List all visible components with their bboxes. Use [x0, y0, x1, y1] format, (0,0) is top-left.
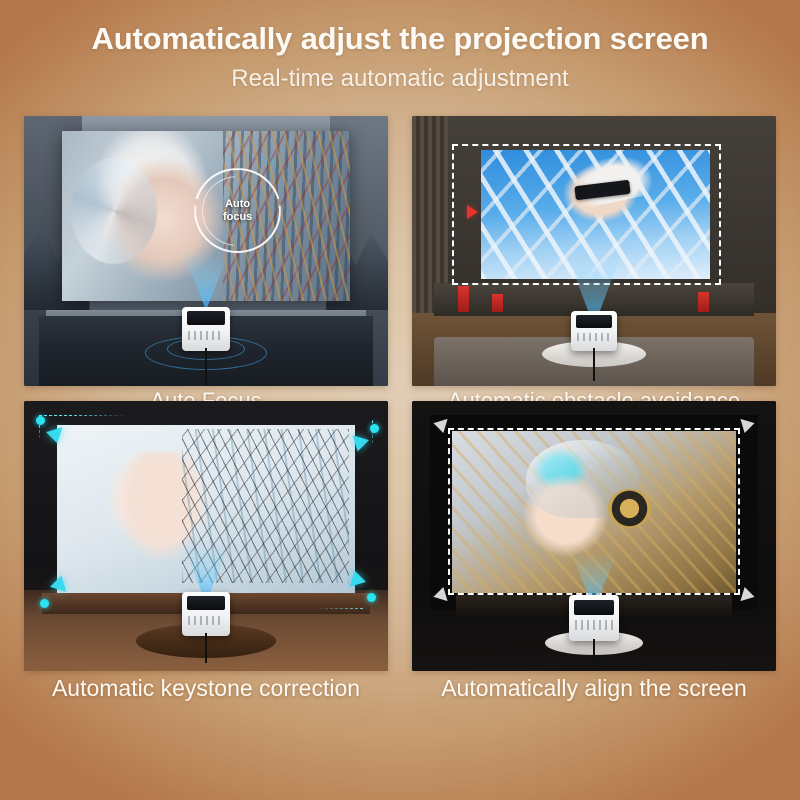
- projector-power-cord: [593, 639, 595, 671]
- projector-lens: [574, 600, 614, 615]
- projector-vents: [575, 620, 613, 630]
- feature-image-auto-focus: Auto focus: [24, 116, 388, 386]
- obstacle-marker-center: [492, 294, 503, 312]
- page-subtitle: Real-time automatic adjustment: [0, 65, 800, 93]
- auto-focus-label-line1: Auto: [225, 198, 250, 211]
- projector-device: [182, 307, 230, 351]
- projector-device: [569, 595, 619, 641]
- projector-vents: [577, 333, 612, 342]
- projector-power-cord: [593, 348, 595, 380]
- keystone-handle-bottom-right[interactable]: [367, 593, 376, 602]
- projector-power-cord: [205, 633, 207, 663]
- projector-lens: [187, 311, 225, 325]
- projector-vents: [188, 616, 224, 626]
- feature-image-keystone-correction: [24, 401, 388, 671]
- feature-cell-auto-focus: Auto focus Auto Focus: [24, 116, 388, 401]
- obstacle-marker-right: [698, 292, 709, 312]
- feature-image-align-screen: [412, 401, 776, 671]
- auto-focus-ring-icon: Auto focus: [194, 168, 280, 253]
- auto-focus-overlay-label: Auto focus: [194, 168, 280, 253]
- feature-caption-keystone-correction: Automatic keystone correction: [24, 675, 388, 702]
- projector-power-cord: [205, 348, 207, 386]
- feature-grid: Auto focus Auto Focus: [24, 116, 776, 780]
- page-title: Automatically adjust the projection scre…: [0, 22, 800, 56]
- obstacle-arrow-marker: [467, 205, 478, 219]
- hair-detail: [569, 150, 654, 209]
- feature-image-obstacle-avoidance: [412, 116, 776, 386]
- chrome-helmet-detail: [71, 158, 157, 263]
- projector-lens: [187, 596, 225, 610]
- projector-lens: [576, 315, 613, 328]
- feature-cell-align-screen: Automatically align the screen: [412, 401, 776, 686]
- projector-vents: [188, 331, 224, 341]
- feature-cell-keystone-correction: Automatic keystone correction: [24, 401, 388, 686]
- auto-focus-label-line2: focus: [223, 211, 252, 224]
- projector-device: [182, 592, 230, 636]
- obstacle-marker-left: [458, 286, 469, 312]
- feature-cell-obstacle-avoidance: Automatic obstacle avoidance: [412, 116, 776, 401]
- projector-device: [571, 311, 617, 351]
- feature-caption-align-screen: Automatically align the screen: [412, 675, 776, 702]
- page-header: Automatically adjust the projection scre…: [0, 0, 800, 93]
